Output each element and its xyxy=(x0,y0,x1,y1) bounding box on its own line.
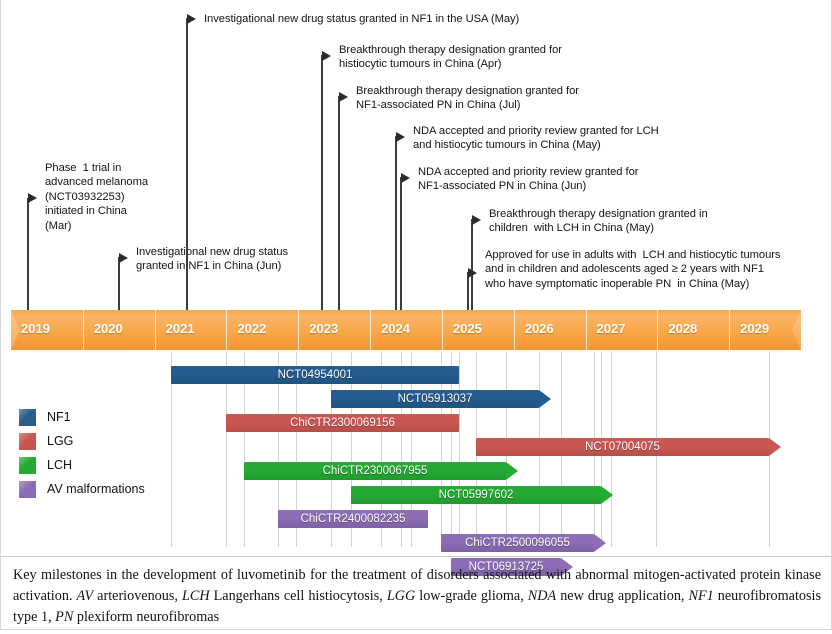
gantt-bar-arrow-icon xyxy=(769,438,781,456)
caption-text: low-grade glioma, xyxy=(415,588,528,604)
axis-year-2020: 2020 xyxy=(83,310,155,350)
gantt-bar-arrow-icon xyxy=(601,486,613,504)
gantt-bar-NCT07004075[interactable]: NCT07004075 xyxy=(476,438,769,456)
milestone-label: Approved for use in adults with LCH and … xyxy=(485,248,780,291)
milestone-label: Breakthrough therapy designation granted… xyxy=(356,84,579,113)
gantt-bar-arrow-icon xyxy=(594,534,606,552)
year-axis-bar: 2019202020212022202320242025202620272028… xyxy=(11,310,801,350)
legend-label: LCH xyxy=(47,457,72,474)
caption-abbreviation: LGG xyxy=(387,588,415,604)
axis-year-label: 2025 xyxy=(453,321,482,336)
gantt-bar-label: NCT04954001 xyxy=(171,366,459,384)
milestone-arrow-icon xyxy=(339,92,348,102)
axis-year-label: 2023 xyxy=(309,321,338,336)
axis-year-2019: 2019 xyxy=(11,310,83,350)
gantt-bar-NCT04954001[interactable]: NCT04954001 xyxy=(171,366,459,384)
milestone-arrow-icon xyxy=(401,173,410,183)
milestone-label: Investigational new drug status granted … xyxy=(136,245,288,274)
milestone-label: NDA accepted and priority review granted… xyxy=(413,124,659,153)
gantt-bar-ChiCTR2300069156[interactable]: ChiCTR2300069156 xyxy=(226,414,459,432)
gantt-bar-ChiCTR2300067955[interactable]: ChiCTR2300067955 xyxy=(244,462,506,480)
axis-year-label: 2027 xyxy=(597,321,626,336)
legend-label: AV malformations xyxy=(47,481,145,498)
gantt-bar-label: ChiCTR2500096055 xyxy=(441,534,594,552)
axis-year-2022: 2022 xyxy=(226,310,298,350)
axis-year-label: 2024 xyxy=(381,321,410,336)
axis-year-2027: 2027 xyxy=(586,310,658,350)
gantt-bar-ChiCTR2500096055[interactable]: ChiCTR2500096055 xyxy=(441,534,594,552)
caption-text: plexiform neurofibromas xyxy=(73,609,219,625)
milestone-arrow-icon xyxy=(472,215,481,225)
milestone-timeline-figure: Phase 1 trial in advanced melanoma (NCT0… xyxy=(0,0,832,630)
gantt-bar-label: NCT07004075 xyxy=(476,438,769,456)
axis-year-2021: 2021 xyxy=(155,310,227,350)
caption-abbreviation: NF1 xyxy=(689,588,714,604)
legend: NF1LGGLCHAV malformations xyxy=(19,406,189,502)
gantt-grid-line xyxy=(459,352,460,547)
gantt-bar-arrow-icon xyxy=(506,462,518,480)
caption-abbreviation: AV xyxy=(77,588,94,604)
milestone-annotation-layer: Phase 1 trial in advanced melanoma (NCT0… xyxy=(1,0,832,318)
milestone-arrow-icon xyxy=(322,51,331,61)
axis-year-2023: 2023 xyxy=(298,310,370,350)
caption-text: new drug application, xyxy=(556,588,688,604)
milestone-label: Phase 1 trial in advanced melanoma (NCT0… xyxy=(45,161,148,233)
milestone-arrow-icon xyxy=(187,14,196,24)
caption-text: arteriovenous, xyxy=(93,588,182,604)
milestone-arrow-icon xyxy=(119,253,128,263)
axis-year-label: 2026 xyxy=(525,321,554,336)
milestone-leader-line xyxy=(395,136,397,310)
axis-year-label: 2019 xyxy=(21,321,50,336)
legend-label: NF1 xyxy=(47,409,71,426)
milestone-leader-line xyxy=(186,18,188,310)
gantt-bar-label: ChiCTR2300069156 xyxy=(226,414,459,432)
gantt-bar-label: ChiCTR2300067955 xyxy=(244,462,506,480)
gantt-bar-NCT05913037[interactable]: NCT05913037 xyxy=(331,390,539,408)
caption-abbreviation: PN xyxy=(55,609,73,625)
gantt-bar-label: NCT05913037 xyxy=(331,390,539,408)
axis-year-label: 2021 xyxy=(166,321,195,336)
milestone-label: NDA accepted and priority review granted… xyxy=(418,165,638,194)
milestone-label: Breakthrough therapy designation granted… xyxy=(339,43,562,72)
milestone-arrow-icon xyxy=(468,268,477,278)
milestone-arrow-icon xyxy=(28,193,37,203)
legend-color-swatch xyxy=(19,433,36,450)
axis-year-2026: 2026 xyxy=(514,310,586,350)
milestone-leader-line xyxy=(27,198,29,310)
gantt-bar-label: NCT05997602 xyxy=(351,486,601,504)
legend-color-swatch xyxy=(19,481,36,498)
milestone-leader-line xyxy=(471,219,473,310)
axis-year-label: 2020 xyxy=(94,321,123,336)
axis-year-2029: 2029 xyxy=(729,310,801,350)
caption-text: Langerhans cell histiocytosis, xyxy=(210,588,387,604)
milestone-leader-line xyxy=(321,55,323,310)
legend-label: LGG xyxy=(47,433,73,450)
gantt-bar-ChiCTR2400082235[interactable]: ChiCTR2400082235 xyxy=(278,510,428,528)
legend-color-swatch xyxy=(19,457,36,474)
gantt-bar-arrow-icon xyxy=(539,390,551,408)
figure-caption: Key milestones in the development of luv… xyxy=(1,556,832,634)
axis-year-2024: 2024 xyxy=(370,310,442,350)
axis-year-2028: 2028 xyxy=(657,310,729,350)
legend-item-av-malformations[interactable]: AV malformations xyxy=(19,478,189,502)
axis-year-2025: 2025 xyxy=(442,310,514,350)
axis-year-label: 2028 xyxy=(668,321,697,336)
milestone-leader-line xyxy=(400,177,402,310)
caption-abbreviation: LCH xyxy=(182,588,210,604)
legend-item-lgg[interactable]: LGG xyxy=(19,430,189,454)
legend-item-nf1[interactable]: NF1 xyxy=(19,406,189,430)
legend-item-lch[interactable]: LCH xyxy=(19,454,189,478)
axis-year-label: 2029 xyxy=(740,321,769,336)
gantt-bar-NCT05997602[interactable]: NCT05997602 xyxy=(351,486,601,504)
gantt-bar-label: ChiCTR2400082235 xyxy=(278,510,428,528)
milestone-leader-line xyxy=(338,96,340,310)
milestone-label: Investigational new drug status granted … xyxy=(204,12,519,26)
milestone-arrow-icon xyxy=(396,132,405,142)
milestone-leader-line xyxy=(118,257,120,310)
axis-year-label: 2022 xyxy=(237,321,266,336)
milestone-label: Breakthrough therapy designation granted… xyxy=(489,207,708,236)
legend-color-swatch xyxy=(19,409,36,426)
caption-abbreviation: NDA xyxy=(528,588,556,604)
